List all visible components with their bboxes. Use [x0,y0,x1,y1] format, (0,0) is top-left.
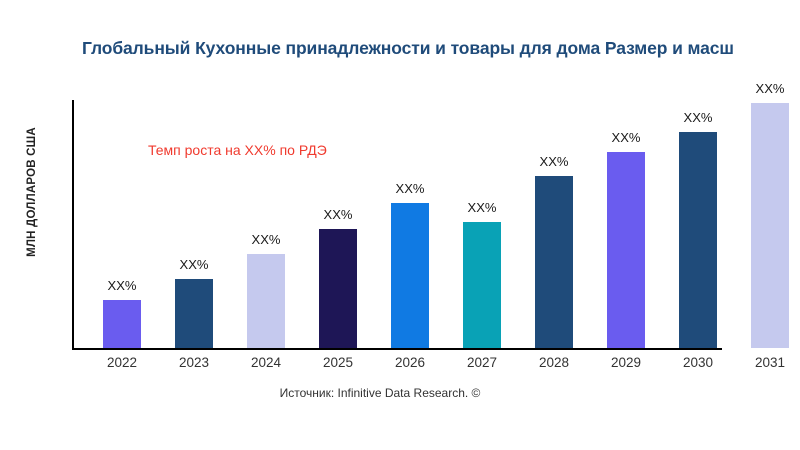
bar-value-label-2026: XX% [375,181,445,196]
bar-2030[interactable] [679,132,717,348]
bar-2023[interactable] [175,279,213,348]
bar-value-label-2031: XX% [735,81,800,96]
plot-area: XX%2022XX%2023XX%2024XX%2025XX%2026XX%20… [0,0,800,450]
x-tick-2024: 2024 [231,355,301,370]
bar-2026[interactable] [391,203,429,348]
x-tick-2030: 2030 [663,355,733,370]
bar-value-label-2027: XX% [447,200,517,215]
bar-2027[interactable] [463,222,501,348]
x-tick-2026: 2026 [375,355,445,370]
x-tick-2031: 2031 [735,355,800,370]
source-caption: Источник: Infinitive Data Research. © [0,386,760,400]
x-tick-2022: 2022 [87,355,157,370]
bar-value-label-2029: XX% [591,130,661,145]
bar-value-label-2025: XX% [303,207,373,222]
x-tick-2028: 2028 [519,355,589,370]
chart-canvas: Глобальный Кухонные принадлежности и тов… [0,0,800,450]
bar-2022[interactable] [103,300,141,348]
bar-value-label-2023: XX% [159,257,229,272]
bar-value-label-2028: XX% [519,154,589,169]
bar-2029[interactable] [607,152,645,348]
bar-value-label-2022: XX% [87,278,157,293]
bar-value-label-2030: XX% [663,110,733,125]
x-tick-2029: 2029 [591,355,661,370]
x-tick-2025: 2025 [303,355,373,370]
x-tick-2027: 2027 [447,355,517,370]
x-tick-2023: 2023 [159,355,229,370]
bar-2025[interactable] [319,229,357,348]
bar-2028[interactable] [535,176,573,348]
bar-2031[interactable] [751,103,789,348]
bar-2024[interactable] [247,254,285,348]
bar-value-label-2024: XX% [231,232,301,247]
